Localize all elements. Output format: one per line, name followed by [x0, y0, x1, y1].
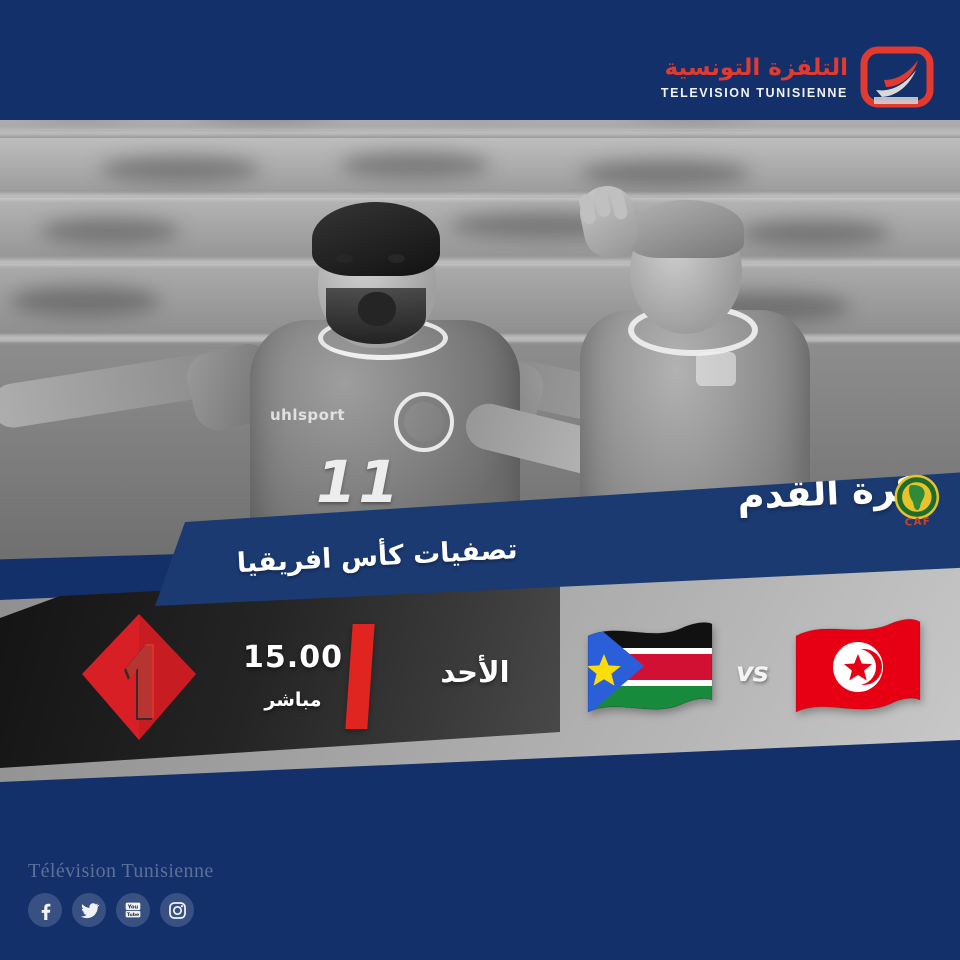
- footer: Télévision Tunisienne You Tube: [28, 860, 214, 927]
- caf-logo-icon: CAF: [887, 471, 948, 532]
- kickoff-time: 15.00: [228, 640, 358, 675]
- svg-text:You: You: [127, 905, 139, 911]
- broadcast-time-block: 15.00 مباشر: [228, 640, 358, 711]
- tunisia-flag-icon: [792, 612, 924, 734]
- instagram-icon[interactable]: [160, 893, 194, 927]
- broadcast-promo-poster: التلفزة التونسية TELEVISION TUNISIENNE: [0, 0, 960, 960]
- elwataniya-1-logo-icon: [80, 612, 198, 742]
- tunisian-television-logo-icon: [860, 40, 934, 114]
- svg-text:Tube: Tube: [127, 912, 139, 918]
- twitter-icon[interactable]: [72, 893, 106, 927]
- network-wordmark: التلفزة التونسية TELEVISION TUNISIENNE: [661, 55, 848, 100]
- match-day: الأحد: [400, 655, 550, 689]
- network-name-french: TELEVISION TUNISIENNE: [661, 86, 848, 100]
- social-links: You Tube: [28, 893, 214, 927]
- competition-title: تصفيات كأس افريقيا: [236, 534, 518, 579]
- youtube-icon[interactable]: You Tube: [116, 893, 150, 927]
- network-name-arabic: التلفزة التونسية: [661, 55, 848, 81]
- south-sudan-flag-icon: [582, 614, 716, 734]
- footer-title: Télévision Tunisienne: [28, 860, 214, 883]
- network-branding: التلفزة التونسية TELEVISION TUNISIENNE: [661, 40, 934, 114]
- broadcast-status: مباشر: [228, 689, 358, 711]
- facebook-icon[interactable]: [28, 893, 62, 927]
- svg-text:CAF: CAF: [905, 516, 932, 528]
- versus-label: vs: [736, 657, 768, 688]
